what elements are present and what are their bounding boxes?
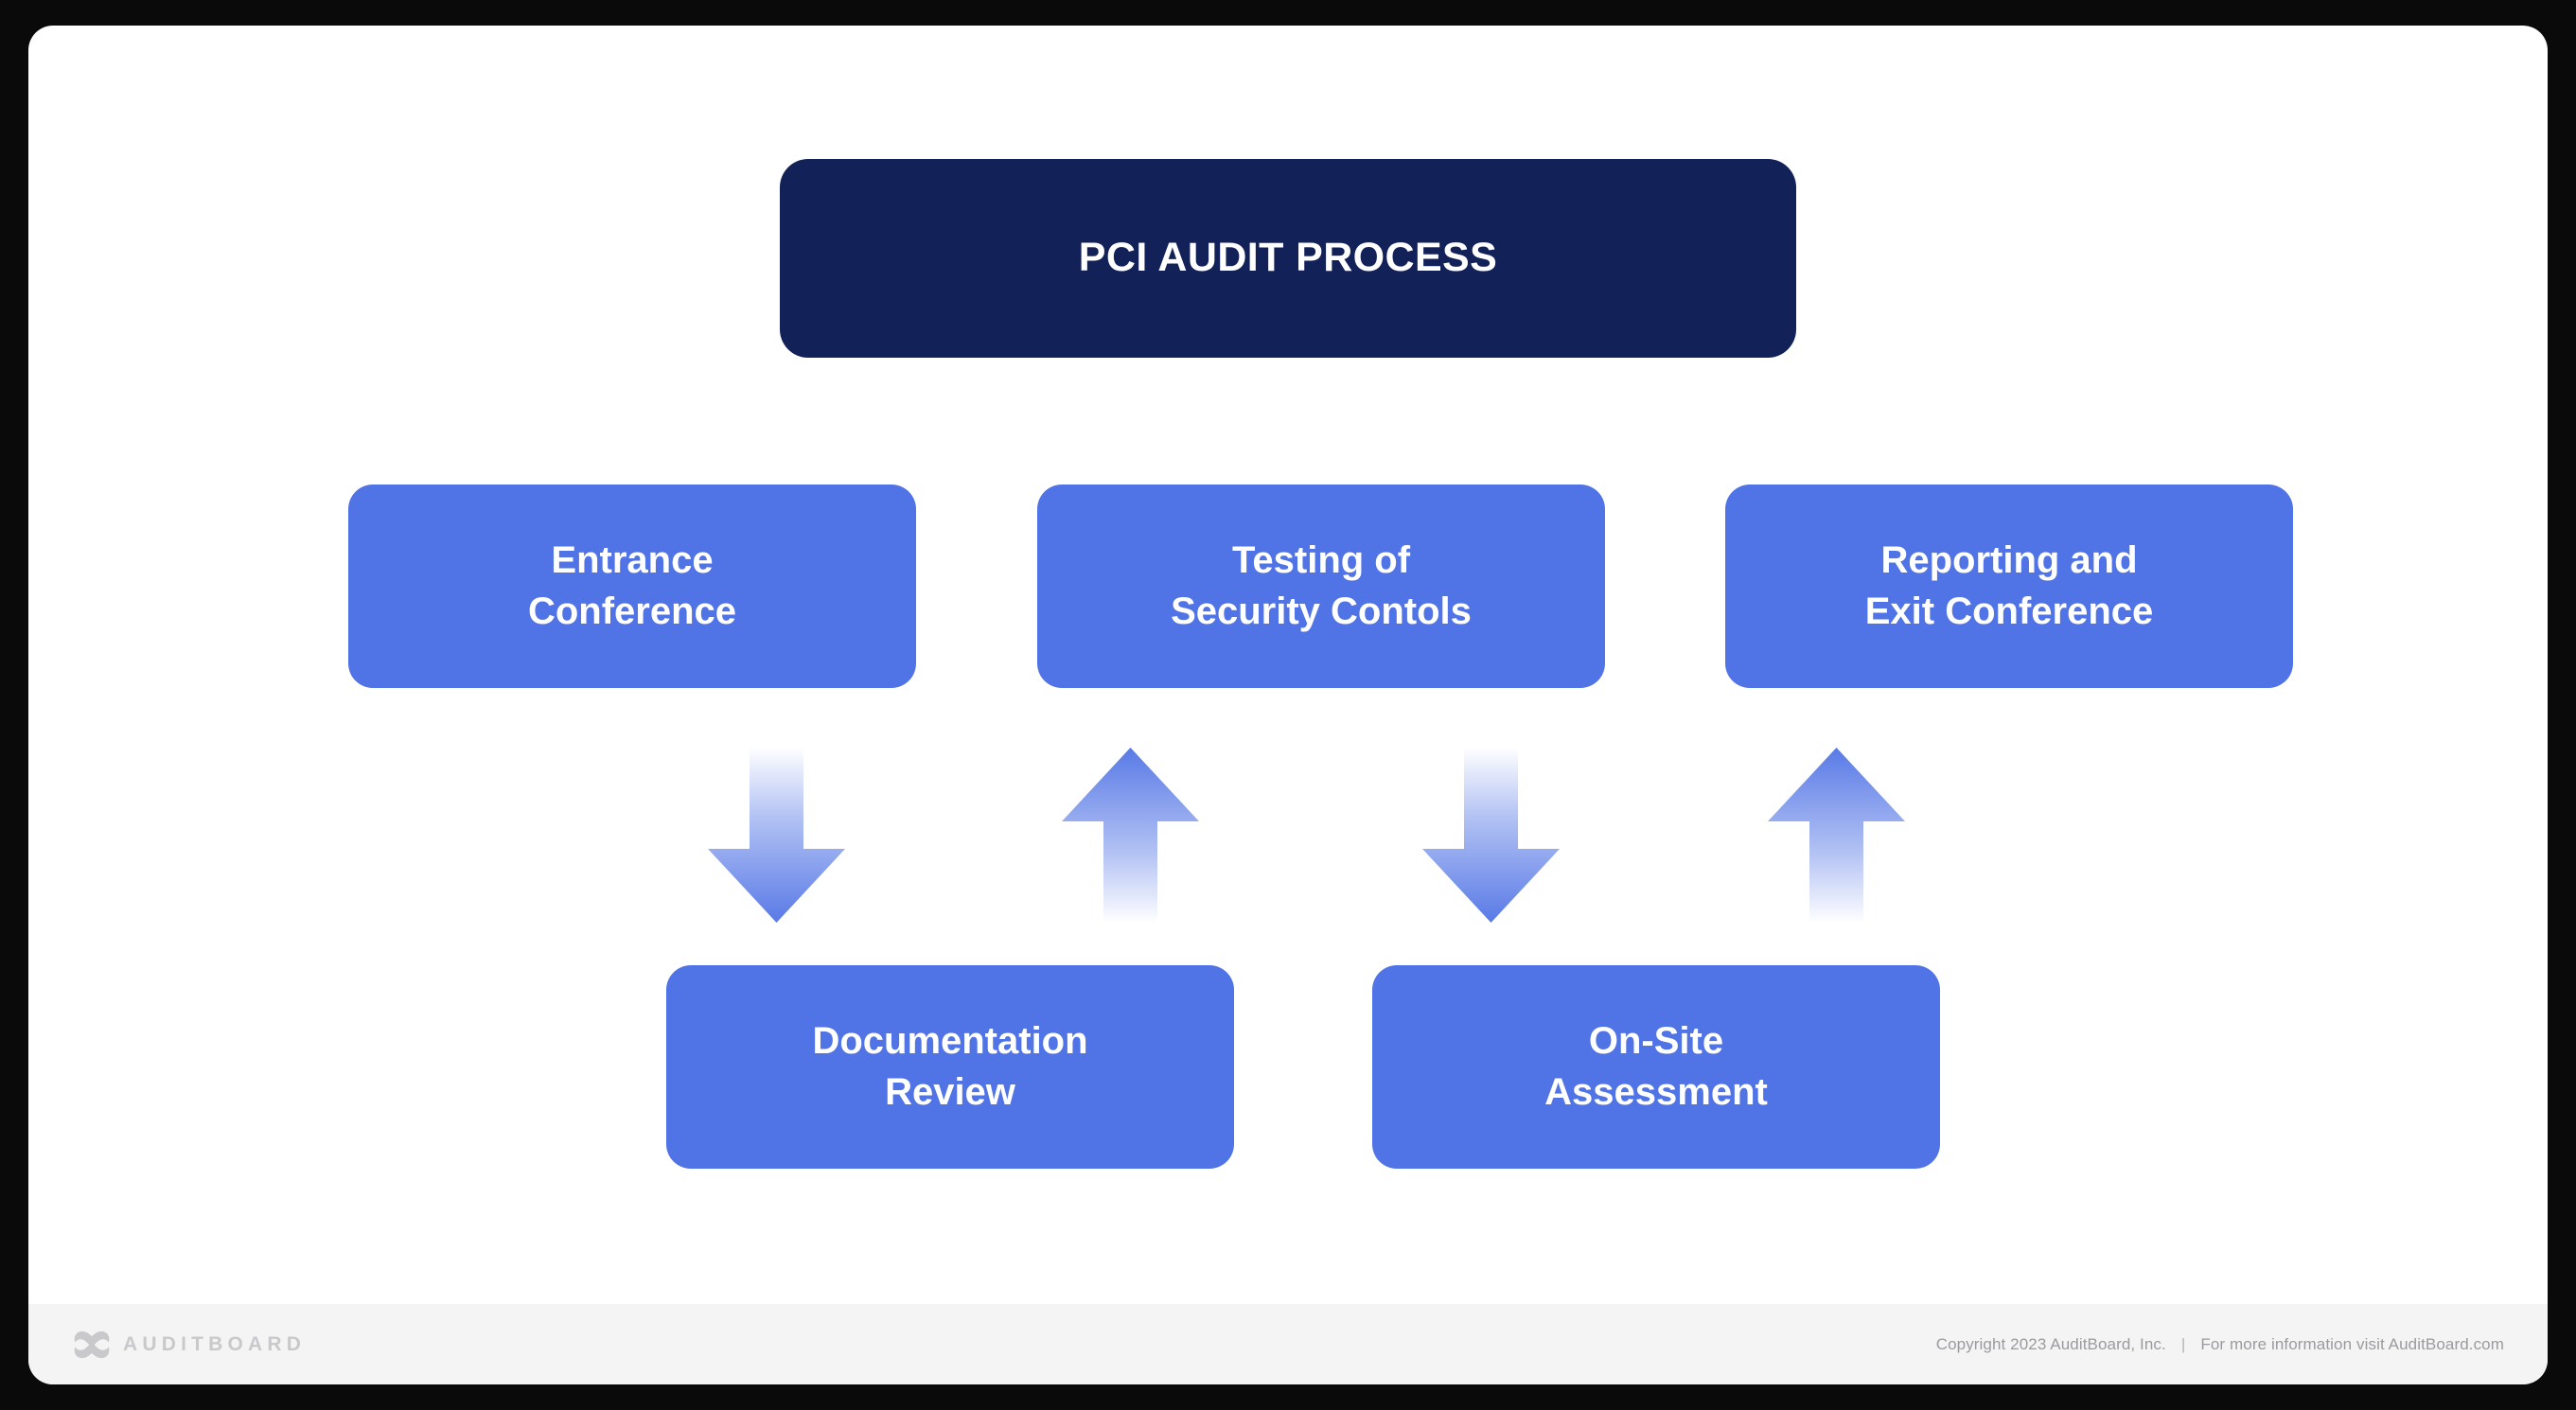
page-title: PCI AUDIT PROCESS xyxy=(1079,234,1497,283)
process-box-line-1: Documentation xyxy=(812,1016,1087,1066)
slide-outer-frame: PCI AUDIT PROCESS Entrance Conference Te… xyxy=(0,0,2576,1410)
arrow-down-icon xyxy=(708,748,845,923)
arrow-up-icon xyxy=(1768,748,1905,923)
auditboard-mark-icon xyxy=(74,1331,110,1359)
slide-footer: AUDITBOARD Copyright 2023 AuditBoard, In… xyxy=(28,1304,2548,1384)
process-box-line-2: Exit Conference xyxy=(1865,587,2154,637)
footer-meta: Copyright 2023 AuditBoard, Inc. | For mo… xyxy=(1936,1335,2504,1354)
process-box-line-1: Testing of xyxy=(1232,536,1410,586)
auditboard-logo: AUDITBOARD xyxy=(74,1331,306,1359)
arrow-up-icon xyxy=(1062,748,1199,923)
process-box-line-2: Security Contols xyxy=(1171,587,1472,637)
footer-info-text: For more information visit AuditBoard.co… xyxy=(2200,1335,2504,1354)
process-box-testing-of-security-controls[interactable]: Testing of Security Contols xyxy=(1037,485,1605,688)
process-box-line-1: Reporting and xyxy=(1880,536,2137,586)
process-box-line-2: Review xyxy=(885,1067,1015,1118)
process-box-documentation-review[interactable]: Documentation Review xyxy=(666,965,1234,1169)
footer-separator: | xyxy=(2181,1335,2186,1354)
slide-card: PCI AUDIT PROCESS Entrance Conference Te… xyxy=(28,26,2548,1384)
process-box-line-1: Entrance xyxy=(551,536,713,586)
process-box-entrance-conference[interactable]: Entrance Conference xyxy=(348,485,916,688)
process-box-line-2: Conference xyxy=(528,587,736,637)
process-box-line-2: Assessment xyxy=(1544,1067,1768,1118)
arrow-down-icon xyxy=(1422,748,1560,923)
auditboard-wordmark: AUDITBOARD xyxy=(123,1333,306,1356)
process-box-on-site-assessment[interactable]: On-Site Assessment xyxy=(1372,965,1940,1169)
process-box-line-1: On-Site xyxy=(1589,1016,1723,1066)
pci-audit-process-diagram: PCI AUDIT PROCESS Entrance Conference Te… xyxy=(28,26,2548,1304)
diagram-title-box: PCI AUDIT PROCESS xyxy=(780,159,1796,358)
process-box-reporting-and-exit-conference[interactable]: Reporting and Exit Conference xyxy=(1725,485,2293,688)
copyright-text: Copyright 2023 AuditBoard, Inc. xyxy=(1936,1335,2166,1354)
